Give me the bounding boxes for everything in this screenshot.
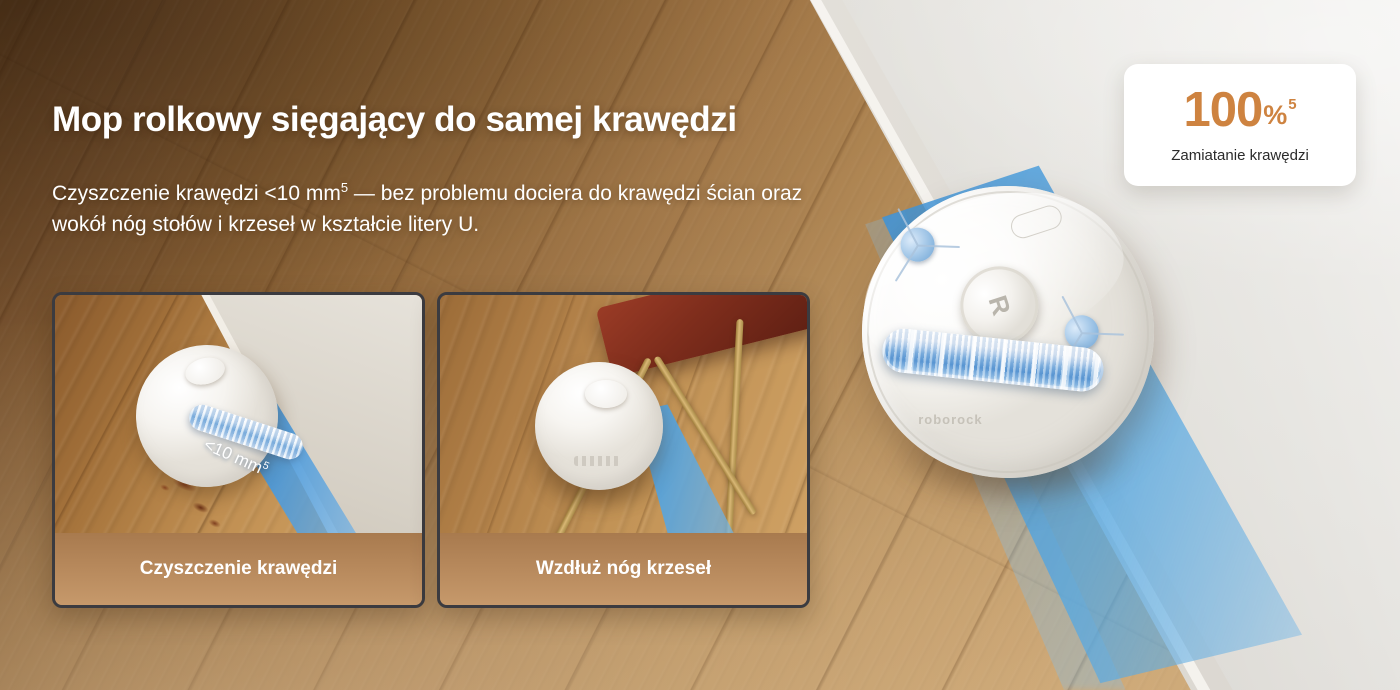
card1-robot-turret xyxy=(182,354,227,389)
stat-badge-label: Zamiatanie krawędzi xyxy=(1171,147,1309,164)
stat-badge-value-row: 100 % 5 xyxy=(1183,86,1296,135)
stat-badge: 100 % 5 Zamiatanie krawędzi xyxy=(1124,64,1356,186)
stat-badge-number: 100 xyxy=(1183,86,1262,135)
card-caption-chair-legs: Wzdłuż nóg krzeseł xyxy=(440,533,807,605)
card-caption-edge-cleaning: Czyszczenie krawędzi xyxy=(55,533,422,605)
robot-brand-text: roborock xyxy=(918,412,982,427)
feature-card-edge-cleaning[interactable]: <10 mm5 Czyszczenie krawędzi xyxy=(52,292,425,608)
card-image-chair-legs xyxy=(440,295,807,533)
card2-robot-turret xyxy=(585,380,627,408)
stat-badge-footnote-marker: 5 xyxy=(1288,97,1296,112)
card2-robot-vacuum xyxy=(535,362,663,490)
subtitle-footnote-marker: 5 xyxy=(341,180,348,195)
page-subtitle: Czyszczenie krawędzi <10 mm5 — bez probl… xyxy=(52,172,842,240)
subtitle-part-1: Czyszczenie krawędzi <10 mm xyxy=(52,182,341,205)
page-title: Mop rolkowy sięgający do samej krawędzi xyxy=(52,100,737,140)
card-image-edge-cleaning: <10 mm5 xyxy=(55,295,422,533)
feature-card-list: <10 mm5 Czyszczenie krawędzi Wzdłuż nóg … xyxy=(52,292,810,608)
card2-robot-ports xyxy=(574,456,620,466)
feature-card-chair-legs[interactable]: Wzdłuż nóg krzeseł xyxy=(437,292,810,608)
stat-badge-percent-sign: % xyxy=(1263,102,1287,129)
roborock-logo-icon: R xyxy=(982,292,1017,318)
